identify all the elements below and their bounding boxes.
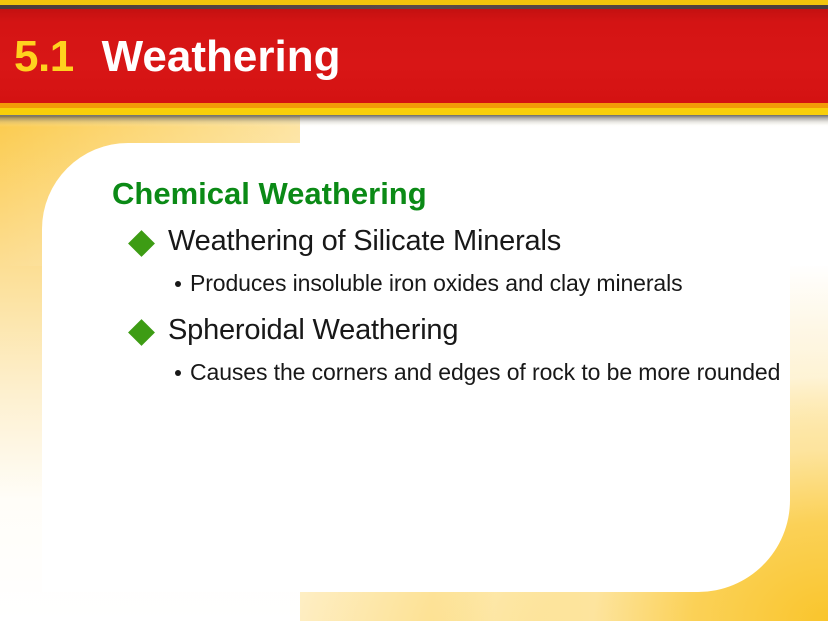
content-heading: Chemical Weathering <box>112 177 782 211</box>
dot-bullet-icon <box>175 370 181 376</box>
bullet-item-label: Weathering of Silicate Minerals <box>168 225 561 258</box>
bullet-item: Weathering of Silicate Minerals <box>132 225 782 258</box>
sub-bullet-item-label: Causes the corners and edges of rock to … <box>190 357 780 389</box>
dot-bullet-icon <box>175 281 181 287</box>
presentation-slide: 5.1 Weathering Chemical Weathering Weath… <box>0 0 828 621</box>
bullet-item: Spheroidal Weathering <box>132 314 782 347</box>
sub-bullet-item: Causes the corners and edges of rock to … <box>175 357 782 389</box>
header-yellow-rule <box>0 108 828 115</box>
bullet-item-label: Spheroidal Weathering <box>168 314 458 347</box>
content-panel: Chemical Weathering Weathering of Silica… <box>42 143 790 592</box>
slide-title-group: 5.1 Weathering <box>14 24 340 90</box>
diamond-bullet-icon <box>128 230 155 257</box>
header-drop-shadow <box>0 115 828 127</box>
page-title: Weathering <box>102 32 341 82</box>
sub-bullet-item-label: Produces insoluble iron oxides and clay … <box>190 268 683 300</box>
diamond-bullet-icon <box>128 319 155 346</box>
sub-bullet-item: Produces insoluble iron oxides and clay … <box>175 268 782 300</box>
slide-header-bar: 5.1 Weathering <box>0 0 828 116</box>
section-number: 5.1 <box>14 32 74 82</box>
content-panel-inner: Chemical Weathering Weathering of Silica… <box>112 177 782 389</box>
